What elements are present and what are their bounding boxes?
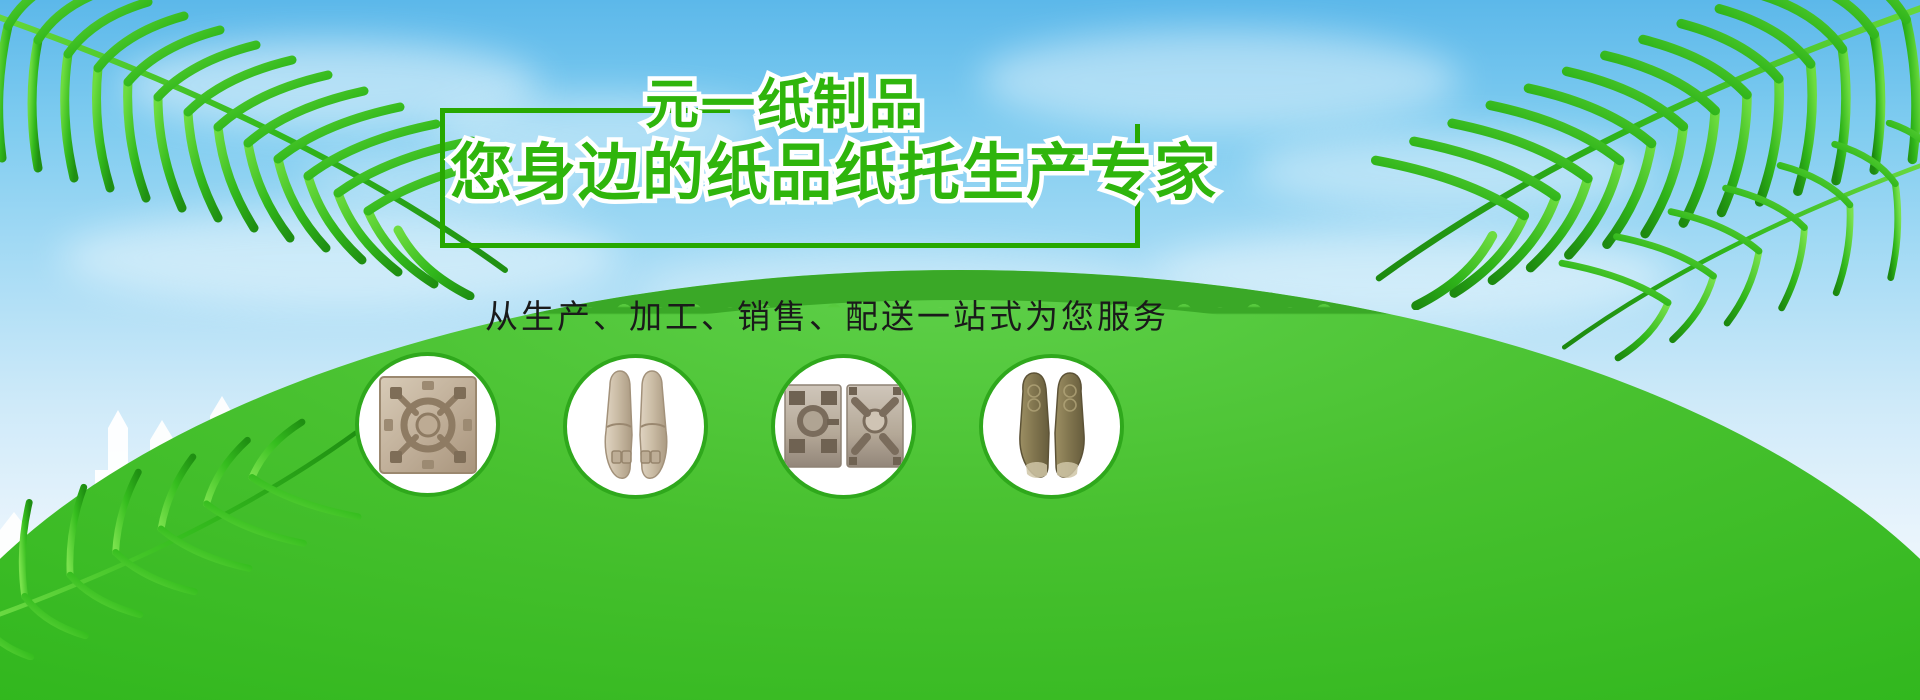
frame-bottom-rule [440, 243, 1140, 248]
headline-block: 元一纸制品 您身边的纸品纸托生产专家 [440, 88, 1140, 228]
square-pulp-tray-image [374, 371, 482, 479]
double-pulp-insert-tray-image [783, 381, 905, 473]
product-circle-double-pulp-insert-tray[interactable] [771, 354, 916, 499]
dark-pulp-shoe-pair-image [1000, 365, 1104, 489]
page-title: 您身边的纸品纸托生产专家 [450, 138, 1218, 210]
palm-frond-icon [1360, 0, 1920, 310]
cloud-shape [1250, 130, 1650, 210]
product-circle-dark-pulp-shoe-pair[interactable] [979, 354, 1124, 499]
product-circle-square-pulp-tray[interactable] [355, 352, 500, 497]
palm-frond-icon [0, 410, 370, 660]
brand-title: 元一纸制品 [645, 74, 925, 136]
product-circle-pulp-shoe-tree-pair[interactable] [563, 354, 708, 499]
palm-frond-icon [1550, 120, 1920, 370]
product-showcase [355, 352, 1165, 512]
subtitle-text: 从生产、加工、销售、配送一站式为您服务 [485, 290, 1485, 338]
pulp-shoe-tree-pair-image [584, 365, 688, 489]
frame-left-rule [440, 108, 445, 248]
promo-banner: 元一纸制品 您身边的纸品纸托生产专家 从生产、加工、销售、配送一站式为您服务 [0, 0, 1920, 700]
